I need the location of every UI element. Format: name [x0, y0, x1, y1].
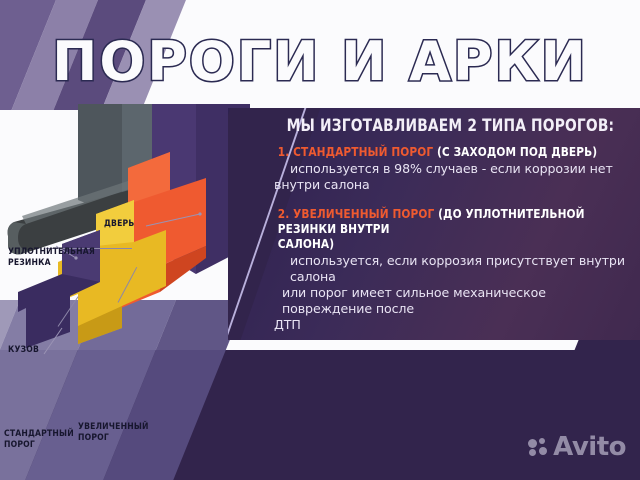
car-sill-illustration: ДВЕРЬ УПЛОТНИТЕЛЬНАЯ РЕЗИНКА КУЗОВ СТАНД…: [0, 96, 260, 356]
panel-item-1-title: 1. СТАНДАРТНЫЙ ПОРОГ (С ЗАХОДОМ ПОД ДВЕР…: [274, 144, 616, 159]
panel-item-2-body-line-1: используется, если коррозия присутствует…: [274, 253, 634, 285]
label-door: ДВЕРЬ: [104, 218, 134, 229]
label-standard-sill: СТАНДАРТНЫЙ ПОРОГ: [4, 428, 74, 450]
poster-canvas: ПОРОГИ И АРКИ: [0, 0, 640, 480]
panel-item-2-body-line-2: или порог имеет сильное механическое пов…: [274, 285, 634, 317]
page-title: ПОРОГИ И АРКИ: [0, 34, 640, 90]
panel-item-2-body-line-3: ДТП: [274, 317, 634, 333]
avito-brand-text: Avito: [553, 434, 626, 460]
label-body: КУЗОВ: [8, 344, 39, 355]
panel-heading: МЫ ИЗГОТАВЛИВАЕМ 2 ТИПА ПОРОГОВ:: [287, 116, 622, 135]
avito-dots-icon: [528, 438, 548, 456]
panel-item-1-number-label: 1. СТАНДАРТНЫЙ ПОРОГ: [278, 144, 433, 159]
panel-item-1-body-line-1: используется в 98% случаев - если корроз…: [274, 161, 634, 177]
label-sealing-rubber: УПЛОТНИТЕЛЬНАЯ РЕЗИНКА: [8, 246, 95, 268]
label-enlarged-sill: УВЕЛИЧЕННЫЙ ПОРОГ: [78, 421, 149, 443]
panel-item-2-body: используется, если коррозия присутствует…: [274, 253, 634, 333]
info-panel: МЫ ИЗГОТАВЛИВАЕМ 2 ТИПА ПОРОГОВ: 1. СТАН…: [228, 108, 640, 340]
panel-item-2-title: 2. УВЕЛИЧЕННЫЙ ПОРОГ (ДО УПЛОТНИТЕЛЬНОЙ …: [274, 206, 616, 251]
panel-item-1-body: используется в 98% случаев - если корроз…: [274, 161, 634, 193]
leader-dot-door: [198, 212, 201, 215]
panel-item-2-qualifier-line-2: САЛОНА): [278, 236, 616, 251]
panel-item-1-qualifier: (С ЗАХОДОМ ПОД ДВЕРЬ): [437, 144, 597, 159]
avito-watermark: Avito: [528, 434, 626, 460]
panel-item-1-body-line-2: внутри салона: [274, 177, 634, 193]
panel-item-2-number-label: 2. УВЕЛИЧЕННЫЙ ПОРОГ: [278, 206, 435, 221]
